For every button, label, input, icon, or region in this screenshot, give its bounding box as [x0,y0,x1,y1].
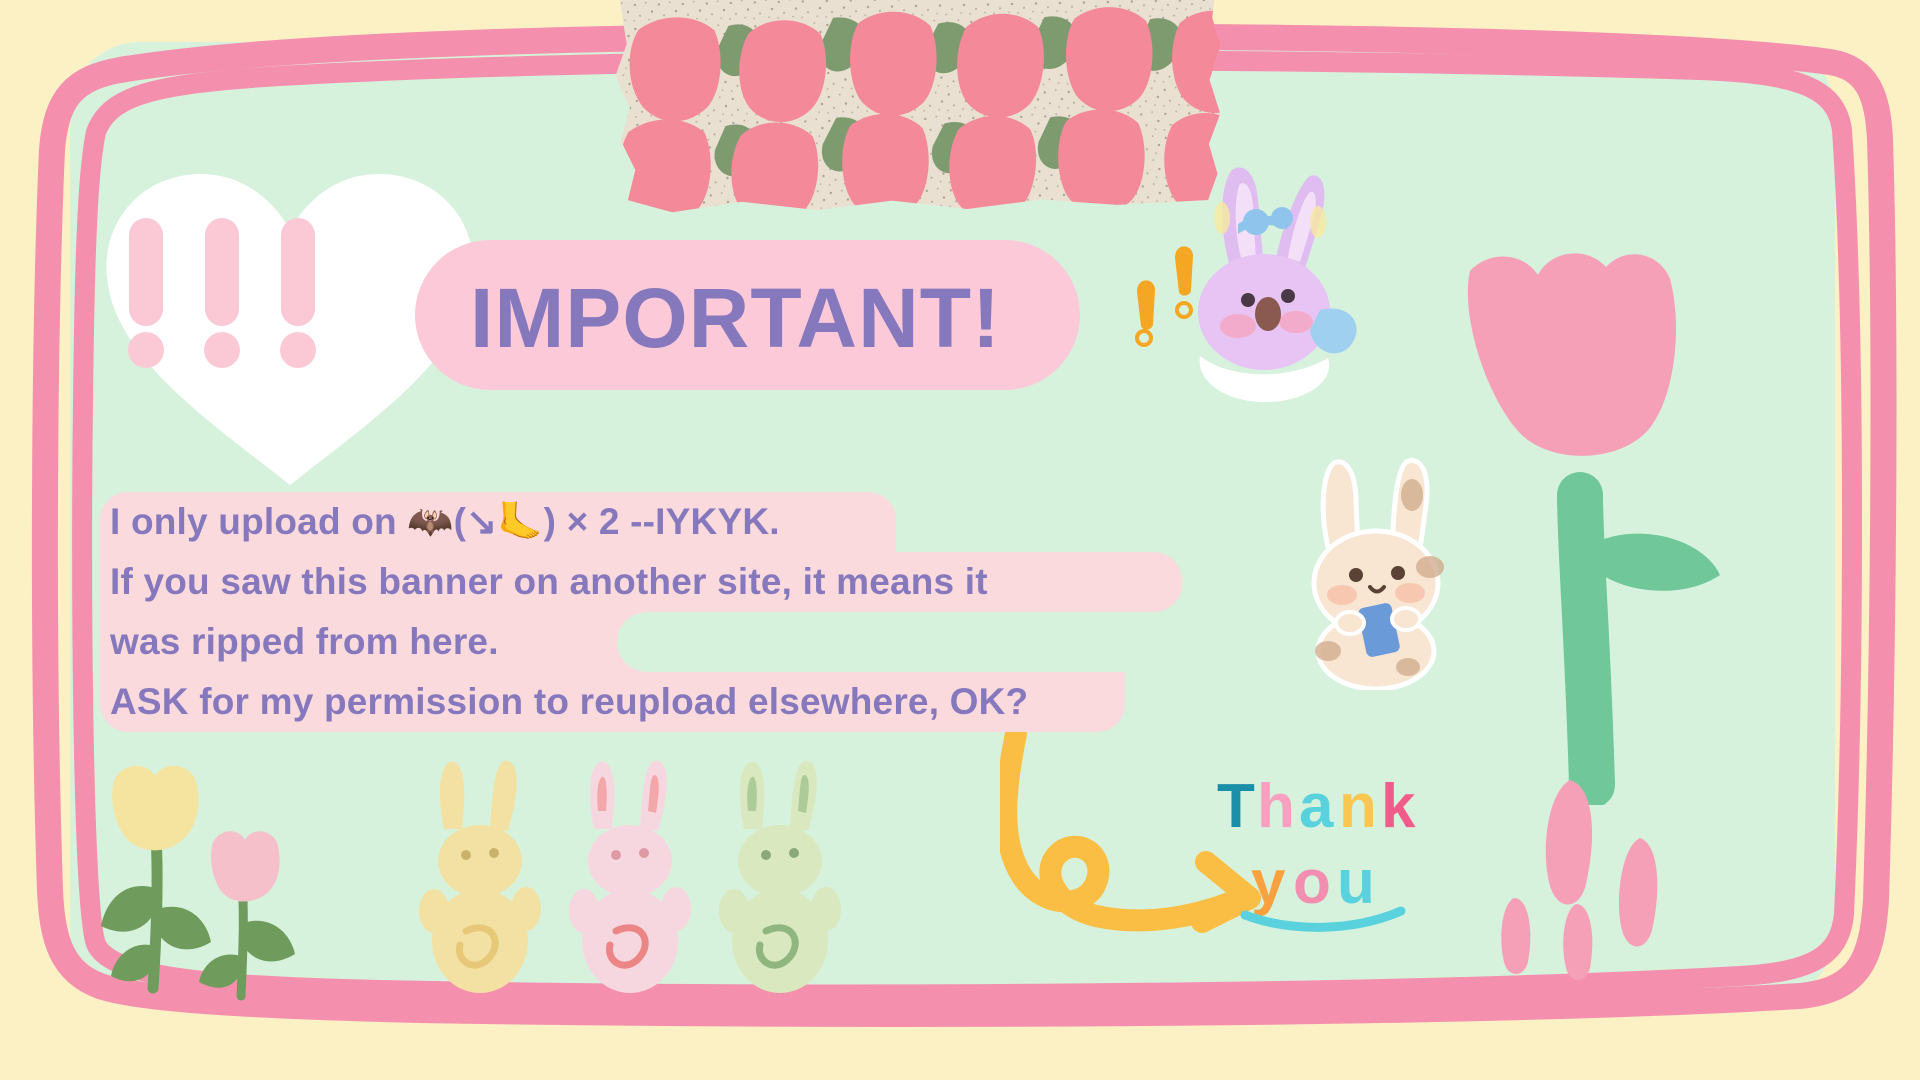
petals-icon [1500,780,1720,980]
gummy-bunny-icon [719,761,841,993]
thankyou-letter-n: n [1339,772,1377,841]
body-line-4-text: ASK for my permission to reupload elsewh… [110,681,1028,722]
page-title: IMPORTANT! [470,268,1090,368]
body-line-3-text: was ripped from here. [110,621,499,662]
body-line-1: I only upload on 🦇(↘🦶) × 2 --IYKYK. [100,492,1220,552]
thankyou-letter-T: T [1217,772,1255,841]
line-3-highlight-notch [617,612,1182,672]
thankyou-letter-y: y [1251,848,1286,917]
gummy-bunnies-row [400,755,980,1005]
tulip-icon [1430,245,1760,805]
body-line-2-text: If you saw this banner on another site, … [110,561,988,602]
small-tulips-icon [95,760,345,1005]
body-line-2: If you saw this banner on another site, … [100,552,1220,612]
thank-you-lettering: T h a n k y o u [1215,765,1505,940]
gummy-bunny-icon [569,761,691,993]
gummy-bunny-icon [419,761,541,993]
thankyou-letter-h: h [1257,772,1295,841]
thankyou-letter-u: u [1337,848,1375,917]
washi-tape-icon [608,0,1233,222]
body-text-block: I only upload on 🦇(↘🦶) × 2 --IYKYK. If y… [100,492,1220,732]
thankyou-letter-a: a [1299,772,1334,841]
thankyou-letter-o: o [1293,848,1331,917]
body-line-3: was ripped from here. [100,612,1220,672]
body-line-1-text: I only upload on 🦇(↘🦶) × 2 --IYKYK. [110,501,780,542]
body-line-4: ASK for my permission to reupload elsewh… [100,672,1220,732]
flying-bunny-icon [1160,160,1390,425]
thankyou-letter-k: k [1381,772,1416,841]
banner-canvas: IMPORTANT! [0,0,1920,1080]
